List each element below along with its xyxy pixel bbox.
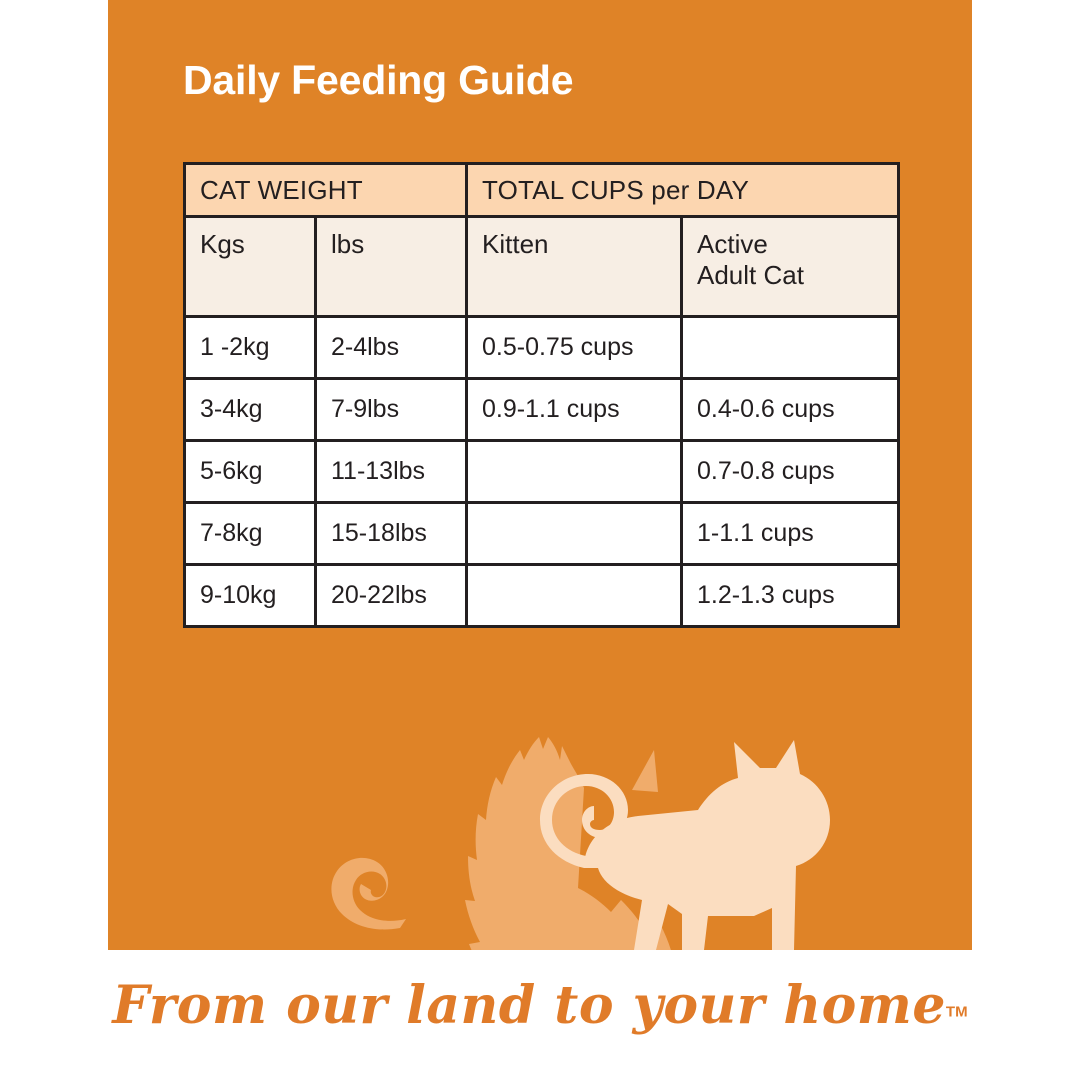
cell-adult: 0.7-0.8 cups: [682, 441, 899, 503]
feeding-table-container: CAT WEIGHT TOTAL CUPS per DAY Kgs lbs Ki…: [183, 162, 897, 628]
sitting-long-hair-cat-silhouette: [331, 737, 713, 950]
column-header-active-line2: Adult Cat: [697, 260, 883, 291]
orange-content-panel: Daily Feeding Guide CAT WEIGHT TOTAL CUP…: [108, 0, 972, 950]
table-row: 7-8kg 15-18lbs 1-1.1 cups: [185, 503, 899, 565]
cell-kgs: 1 -2kg: [185, 317, 316, 379]
trademark-symbol: TM: [946, 1004, 968, 1021]
cell-adult: 1.2-1.3 cups: [682, 565, 899, 627]
cell-lbs: 11-13lbs: [316, 441, 467, 503]
cell-kitten: [467, 503, 682, 565]
cell-kitten: [467, 441, 682, 503]
cell-lbs: 7-9lbs: [316, 379, 467, 441]
table-subheader-row: Kgs lbs Kitten Active Adult Cat: [185, 217, 899, 317]
brand-tagline-text: From our land to your home: [112, 975, 946, 1036]
header-cat-weight-group: CAT WEIGHT: [185, 164, 467, 217]
cell-kitten: 0.5-0.75 cups: [467, 317, 682, 379]
cell-kitten: [467, 565, 682, 627]
page-root: Daily Feeding Guide CAT WEIGHT TOTAL CUP…: [0, 0, 1080, 1080]
column-header-lbs: lbs: [316, 217, 467, 317]
cell-adult: [682, 317, 899, 379]
brand-tagline: From our land to your homeTM: [0, 975, 1080, 1036]
cell-adult: 0.4-0.6 cups: [682, 379, 899, 441]
table-row: 5-6kg 11-13lbs 0.7-0.8 cups: [185, 441, 899, 503]
cell-kgs: 7-8kg: [185, 503, 316, 565]
cell-kgs: 9-10kg: [185, 565, 316, 627]
header-total-cups-group: TOTAL CUPS per DAY: [467, 164, 899, 217]
cell-kgs: 5-6kg: [185, 441, 316, 503]
cell-kitten: 0.9-1.1 cups: [467, 379, 682, 441]
table-row: 9-10kg 20-22lbs 1.2-1.3 cups: [185, 565, 899, 627]
cell-lbs: 15-18lbs: [316, 503, 467, 565]
page-title: Daily Feeding Guide: [183, 57, 573, 104]
column-header-active-line1: Active: [697, 229, 883, 260]
table-row: 1 -2kg 2-4lbs 0.5-0.75 cups: [185, 317, 899, 379]
table-body: 1 -2kg 2-4lbs 0.5-0.75 cups 3-4kg 7-9lbs…: [185, 317, 899, 627]
column-header-active-adult-cat: Active Adult Cat: [682, 217, 899, 317]
table-row: 3-4kg 7-9lbs 0.9-1.1 cups 0.4-0.6 cups: [185, 379, 899, 441]
column-header-kgs: Kgs: [185, 217, 316, 317]
cell-lbs: 20-22lbs: [316, 565, 467, 627]
cell-kgs: 3-4kg: [185, 379, 316, 441]
standing-cat-silhouette: [540, 740, 830, 950]
cell-adult: 1-1.1 cups: [682, 503, 899, 565]
column-header-kitten: Kitten: [467, 217, 682, 317]
cell-lbs: 2-4lbs: [316, 317, 467, 379]
table-banner-row: CAT WEIGHT TOTAL CUPS per DAY: [185, 164, 899, 217]
daily-feeding-table: CAT WEIGHT TOTAL CUPS per DAY Kgs lbs Ki…: [183, 162, 900, 628]
